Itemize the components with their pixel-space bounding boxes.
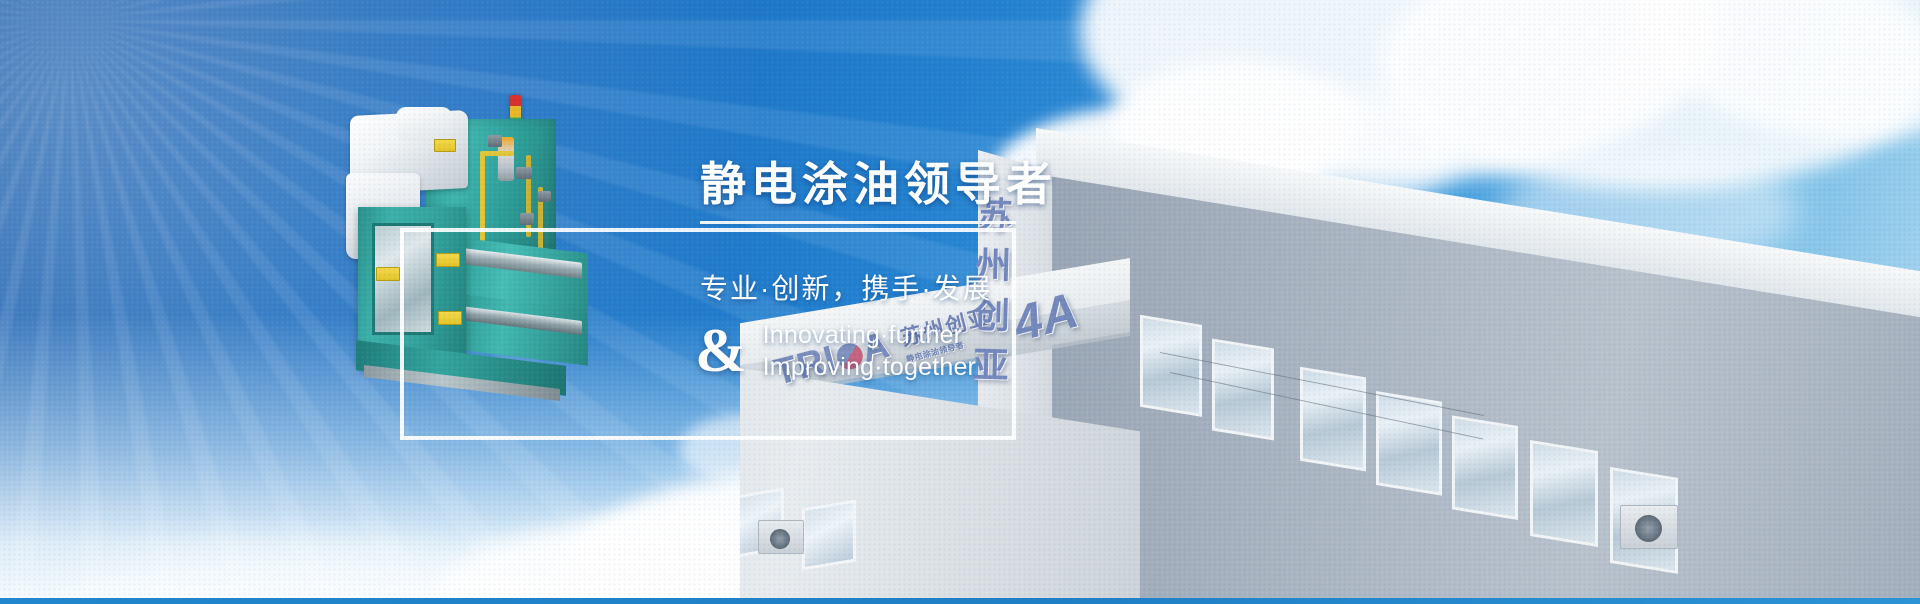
air-conditioner-fan-icon [1635,515,1662,542]
banner-headline: 静电涂油领导者 [700,148,1057,214]
window [1530,440,1598,547]
english-slogan-line-2: Improving·together [763,352,976,384]
valve-icon [516,167,532,179]
headline-divider [700,221,1016,224]
window [1452,415,1518,520]
valve-icon [538,191,551,202]
english-slogan-block: & Innovating·further Improving·together [695,320,976,383]
air-conditioner-fan-icon [770,529,790,549]
banner-subheadline: 专业·创新，携手·发展 [700,267,993,307]
window [1212,338,1274,440]
bottom-accent-bar [0,598,1920,604]
valve-icon [488,135,502,147]
window [1376,391,1442,496]
valve-icon [520,213,534,225]
window [1300,367,1366,472]
warning-label-icon [376,267,400,281]
machine-hopper-cap [396,107,452,141]
window [1140,315,1202,417]
window [802,499,856,570]
english-slogan-lines: Innovating·further Improving·together [763,320,976,383]
hero-banner: TRIA 苏州创亚 静电涂油领导者 4A 苏州创亚 [0,0,1920,604]
warning-label-icon [434,139,456,152]
english-slogan-line-1: Innovating·further [763,320,976,352]
ampersand-glyph: & [695,326,747,377]
pipe [480,151,514,156]
